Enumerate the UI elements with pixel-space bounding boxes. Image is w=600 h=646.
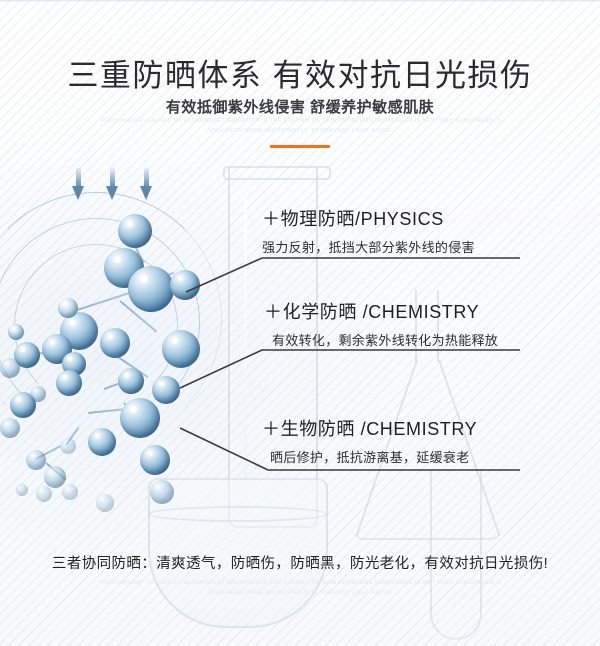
top-edge-hairline [0,0,600,2]
footer-english-caption: "PHOTOAGING" CAUSED BY ULTRAVIOLET RADIA… [0,578,600,599]
molecule-atom [0,358,20,378]
header-english-line-2: UNSCREEN MORE IMPORTANTLY, TO PREVENT LI… [0,126,600,136]
molecule-atom [16,484,28,496]
molecule-atom [152,376,180,404]
promo-banner: 三重防晒体系 有效对抗日光损伤 有效抵御紫外线侵害 舒缓养护敏感肌肤 "PHOT… [0,0,600,646]
molecule-atom [0,418,20,438]
molecule-atom [8,324,24,340]
callout-chemistry: ＋化学防晒 /CHEMISTRY 有效转化，剩余紫外线转化为热能释放 [264,298,498,349]
molecule-atom [88,428,116,456]
callout-biology-sub: 晒后修护，抵抗游离基，延缓衰老 [270,447,477,466]
molecule-atom [150,480,174,504]
molecule-atom [140,445,170,475]
molecule-illustration [0,160,270,500]
callout-biology: ＋生物防晒 /CHEMISTRY 晒后修护，抵抗游离基，延缓衰老 [262,415,477,466]
molecule-bond [88,408,124,414]
footer-summary: 三者协同防晒：清爽透气，防晒伤，防晒黑，防光老化，有效对抗日光损伤! [0,552,600,573]
molecule-atom [100,328,130,358]
callout-biology-heading: ＋生物防晒 /CHEMISTRY [262,415,477,441]
molecule-atom [118,368,144,394]
header-english-line-1: "PHOTOAGING" CAUSED BY ULTRAVIOLET RADIA… [99,118,502,124]
molecule-atom [44,466,66,488]
molecule-atom [58,298,78,318]
molecule-atom [60,438,76,454]
molecule-atom [56,370,82,396]
molecule-atom [118,214,152,248]
molecule-atom [62,484,78,500]
header-english-caption: "PHOTOAGING" CAUSED BY ULTRAVIOLET RADIA… [0,116,600,137]
callout-chemistry-sub: 有效转化，剩余紫外线转化为热能释放 [272,330,498,349]
footer-english-line-1: "PHOTOAGING" CAUSED BY ULTRAVIOLET RADIA… [99,580,502,586]
molecule-atom [30,386,46,402]
page-title: 三重防晒体系 有效对抗日光损伤 [0,50,600,95]
molecule-atom [128,266,174,312]
callout-physics: ＋物理防晒/PHYSICS 强力反射，抵挡大部分紫外线的侵害 [262,205,475,256]
callout-chemistry-heading: ＋化学防晒 /CHEMISTRY [264,298,498,324]
molecule-atom [26,450,46,470]
molecule-atom [96,494,114,512]
footer-english-line-2: UNSCREEN MORE IMPORTANTLY, TO PREVENT LI… [0,588,600,598]
molecule-atom [170,270,200,300]
callout-physics-sub: 强力反射，抵挡大部分紫外线的侵害 [262,237,475,256]
page-subtitle: 有效抵御紫外线侵害 舒缓养护敏感肌肤 [0,96,600,117]
callout-physics-heading: ＋物理防晒/PHYSICS [262,205,475,231]
molecule-atom [162,330,200,368]
molecule-atom [36,486,52,502]
orange-divider [270,145,330,148]
molecule-atom [120,398,160,438]
